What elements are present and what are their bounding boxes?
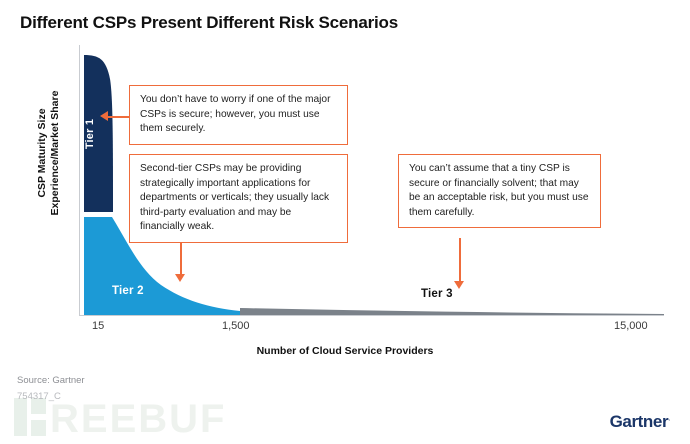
tier-1-label: Tier 1 — [84, 119, 96, 149]
x-axis-label: Number of Cloud Service Providers — [0, 345, 690, 357]
x-axis-tick-15000: 15,000 — [614, 320, 648, 332]
gartner-logo: Gartner. — [610, 412, 670, 432]
callout-3-arrow-icon — [454, 281, 464, 289]
page-title: Different CSPs Present Different Risk Sc… — [20, 13, 398, 33]
source-text: Source: Gartner — [17, 375, 85, 386]
tier-3-label: Tier 3 — [421, 288, 453, 300]
freebuf-watermark: REEBUF — [14, 398, 226, 439]
gartner-logo-trademark-mark: . — [668, 413, 670, 422]
callout-tier-1: You don’t have to worry if one of the ma… — [129, 85, 348, 145]
callout-1-arrow-icon — [100, 111, 108, 121]
gartner-logo-text: Gartner — [610, 412, 669, 431]
document-id: 754317_C — [17, 391, 61, 402]
x-axis-line — [79, 315, 664, 316]
callout-1-connector-line — [106, 116, 130, 118]
x-axis-tick-15: 15 — [92, 320, 104, 332]
tier-2-label: Tier 2 — [112, 285, 144, 297]
callout-tier-2: Second-tier CSPs may be providing strate… — [129, 154, 348, 243]
callout-2-arrow-icon — [175, 274, 185, 282]
tier3-area — [240, 308, 664, 315]
callout-2-connector-line — [180, 240, 182, 276]
callout-tier-3: You can’t assume that a tiny CSP is secu… — [398, 154, 601, 228]
y-axis-line — [79, 45, 80, 316]
freebuf-watermark-text: REEBUF — [50, 397, 226, 441]
callout-3-connector-line — [459, 238, 461, 283]
x-axis-tick-1500: 1,500 — [222, 320, 250, 332]
y-axis-label: CSP Maturity Size Experience/Market Shar… — [36, 63, 62, 243]
freebuf-watermark-mark — [14, 398, 48, 436]
